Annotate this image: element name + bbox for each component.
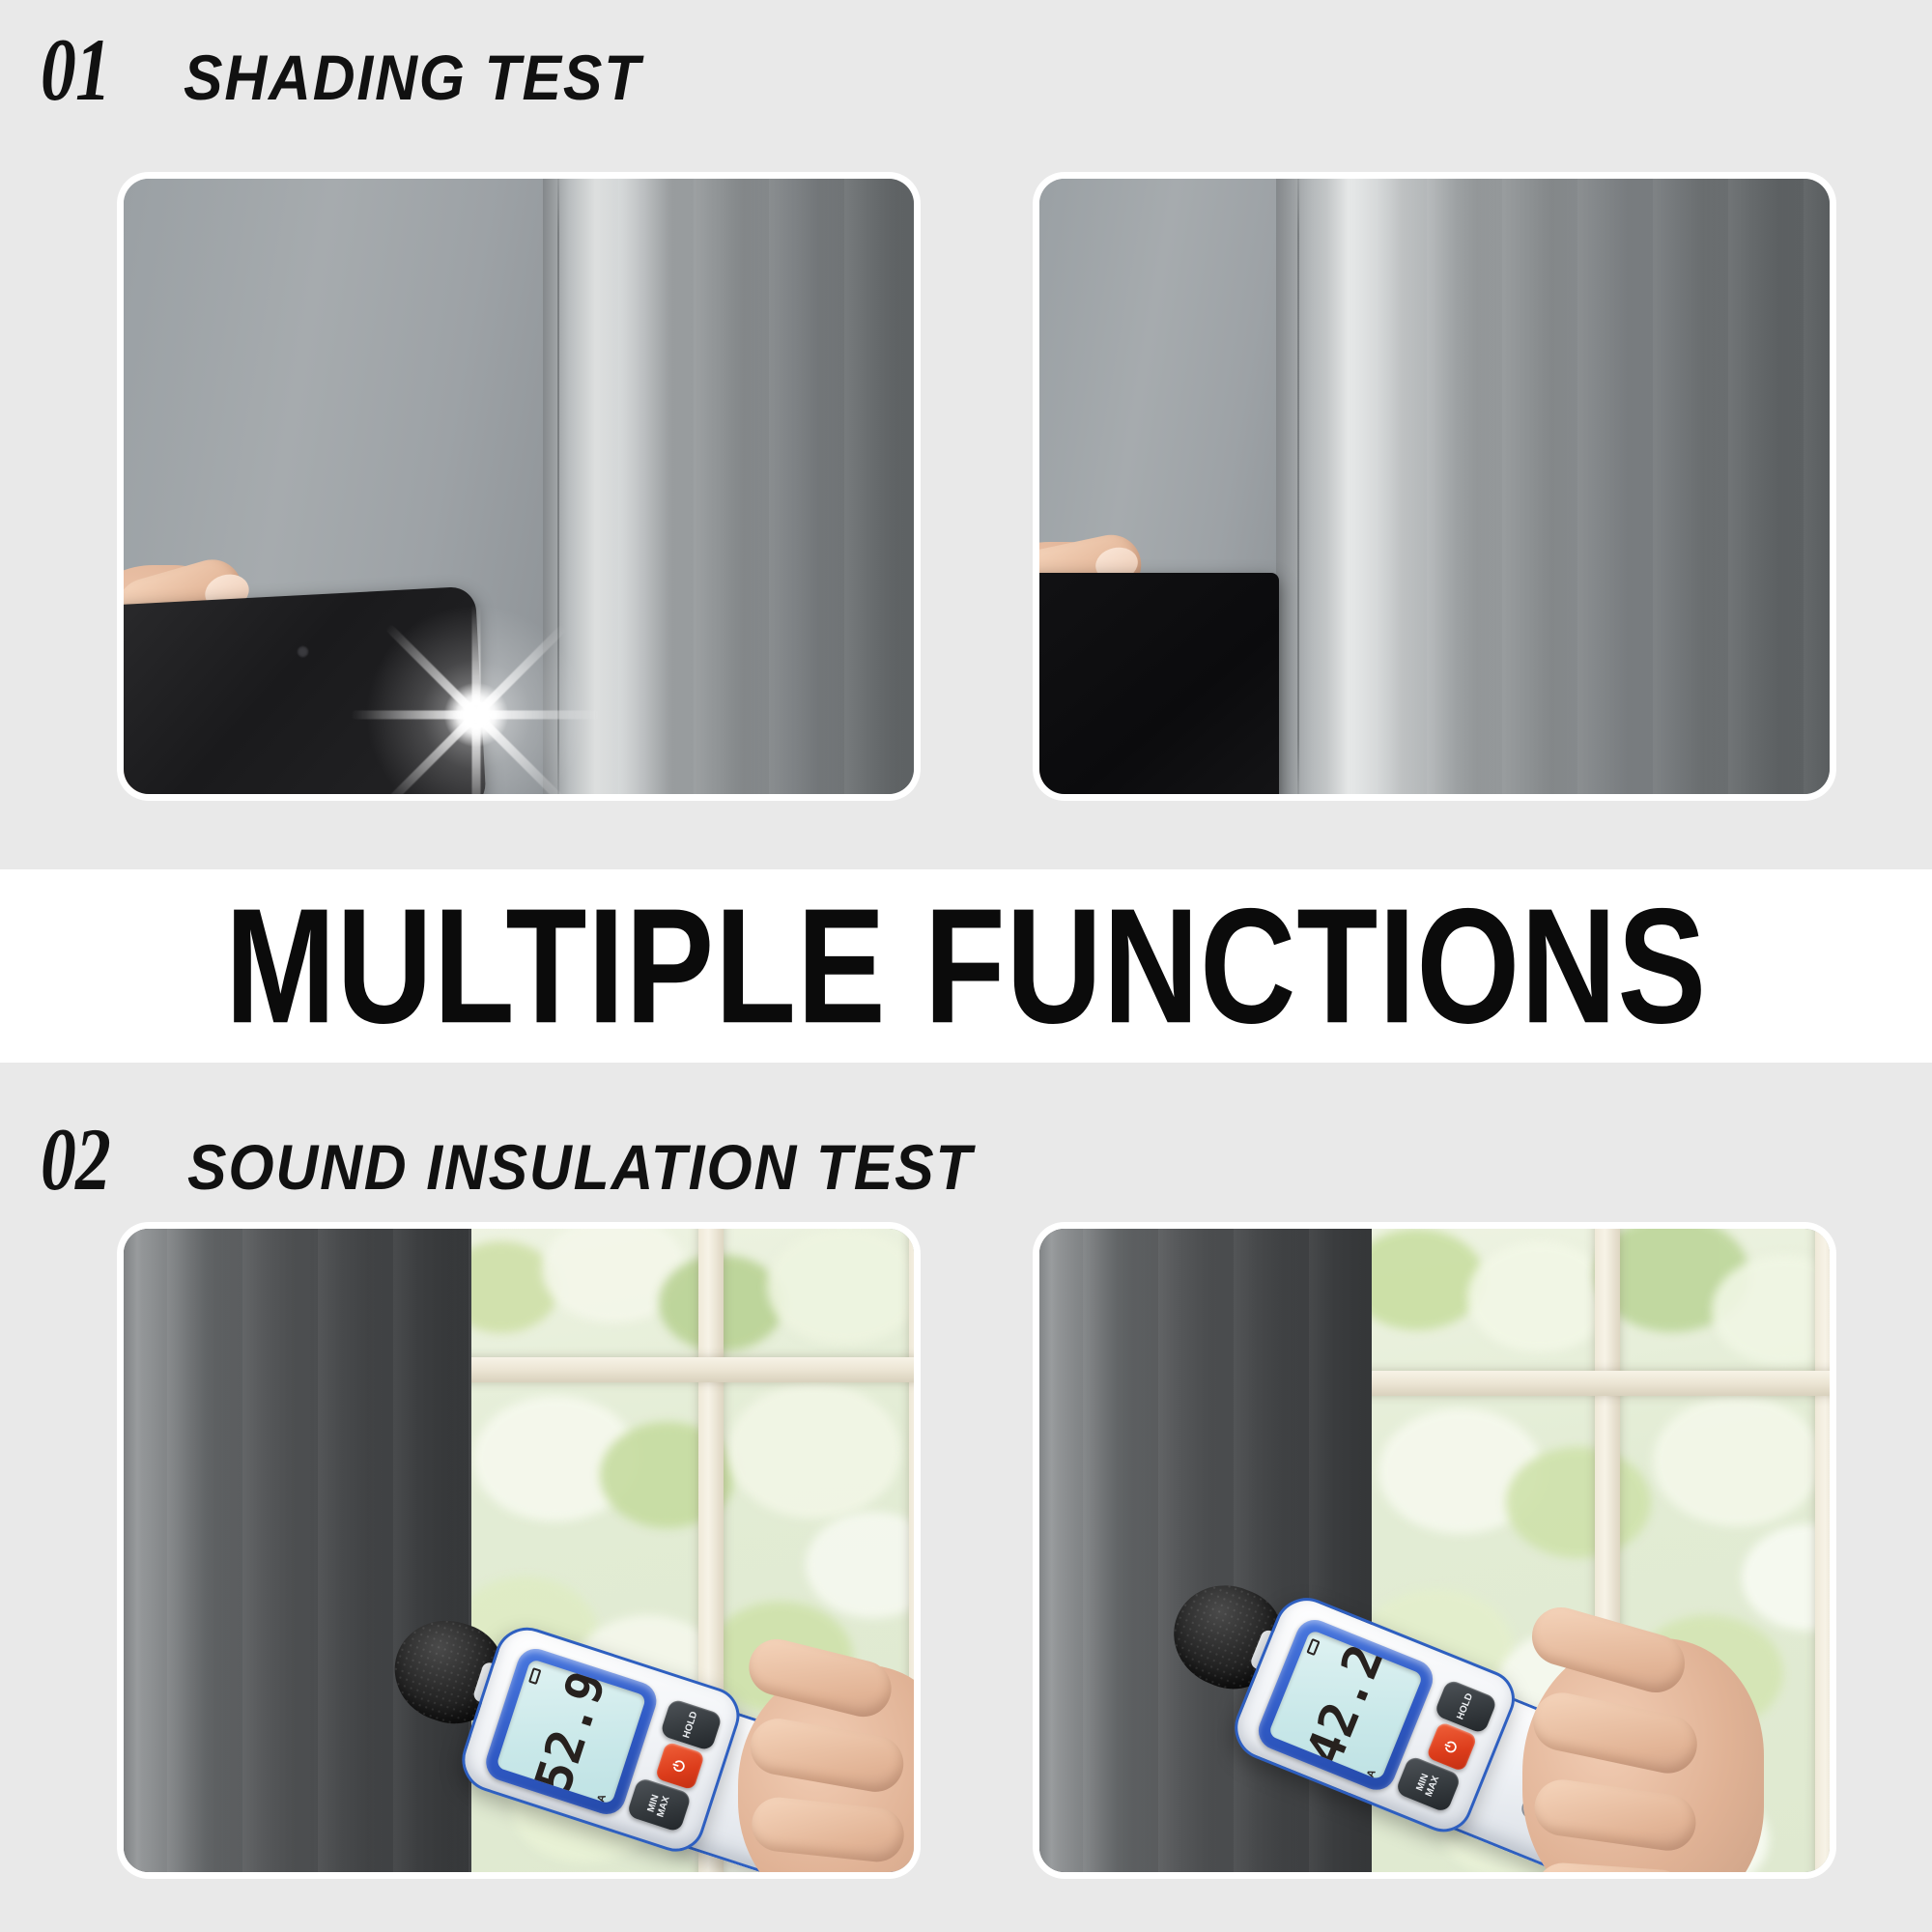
- scene-window-meter-open: BENETECH GM1353 Sound Level Meter 52.9 d…: [124, 1229, 914, 1872]
- section-title-shading: SHADING TEST: [184, 45, 641, 109]
- minmax-button-label: MINMAX: [646, 1792, 672, 1819]
- lcd-reading: 52.9: [528, 1664, 614, 1799]
- photo-card-shading-light-blocked: [1039, 179, 1830, 794]
- lcd-screen: 42.2 dBA: [1267, 1630, 1423, 1781]
- section-header-sound: 02 SOUND INSULATION TEST: [41, 1115, 1041, 1204]
- hold-button-label: HOLD: [682, 1710, 700, 1739]
- hold-button-label: HOLD: [1456, 1692, 1475, 1721]
- curtain-panel: [543, 179, 914, 794]
- scene-curtain-blocking-light: [1039, 179, 1830, 794]
- window-mullion-horizontal: [1340, 1371, 1830, 1396]
- flashlight-icon: [444, 683, 508, 747]
- photo-card-sound-behind-curtain: BENETECH GM1353 Sound Level Meter 42.2 d…: [1039, 1229, 1830, 1872]
- photo-card-sound-window-open: BENETECH GM1353 Sound Level Meter 52.9 d…: [124, 1229, 914, 1872]
- lens-flare-vertical: [472, 604, 481, 794]
- banner-title: MULTIPLE FUNCTIONS: [135, 864, 1797, 1068]
- power-icon: ⏻: [1442, 1738, 1462, 1754]
- curtain-panel: [1276, 179, 1830, 794]
- lcd-unit-label: dBA: [1360, 1768, 1379, 1780]
- lcd-reading: 42.2: [1299, 1637, 1393, 1772]
- scene-window-meter-curtain: BENETECH GM1353 Sound Level Meter 42.2 d…: [1039, 1229, 1830, 1872]
- section-header-shading: 01 SHADING TEST: [41, 25, 681, 114]
- product-infographic-page: 01 SHADING TEST: [0, 0, 1932, 1932]
- window-mullion-vertical: [1815, 1229, 1830, 1872]
- power-icon: ⏻: [670, 1758, 690, 1775]
- photo-card-shading-light-on: [124, 179, 914, 794]
- minmax-button-label: MINMAX: [1415, 1771, 1442, 1798]
- window-mullion-horizontal: [424, 1357, 914, 1382]
- battery-icon: [1306, 1638, 1320, 1656]
- section-number-02: 02: [41, 1115, 110, 1204]
- section-number-01: 01: [41, 25, 110, 114]
- smartphone: [1039, 573, 1279, 794]
- scene-curtain-with-phone-light: [124, 179, 914, 794]
- camera-lens-icon: [297, 645, 310, 659]
- lcd-unit-label: dBA: [591, 1793, 609, 1804]
- curtain-panel: [124, 1229, 471, 1872]
- lcd-screen: 52.9 dBA: [496, 1659, 646, 1804]
- battery-icon: [528, 1667, 542, 1685]
- section-title-sound: SOUND INSULATION TEST: [187, 1135, 973, 1199]
- power-backlight-button[interactable]: ⏻: [655, 1741, 705, 1790]
